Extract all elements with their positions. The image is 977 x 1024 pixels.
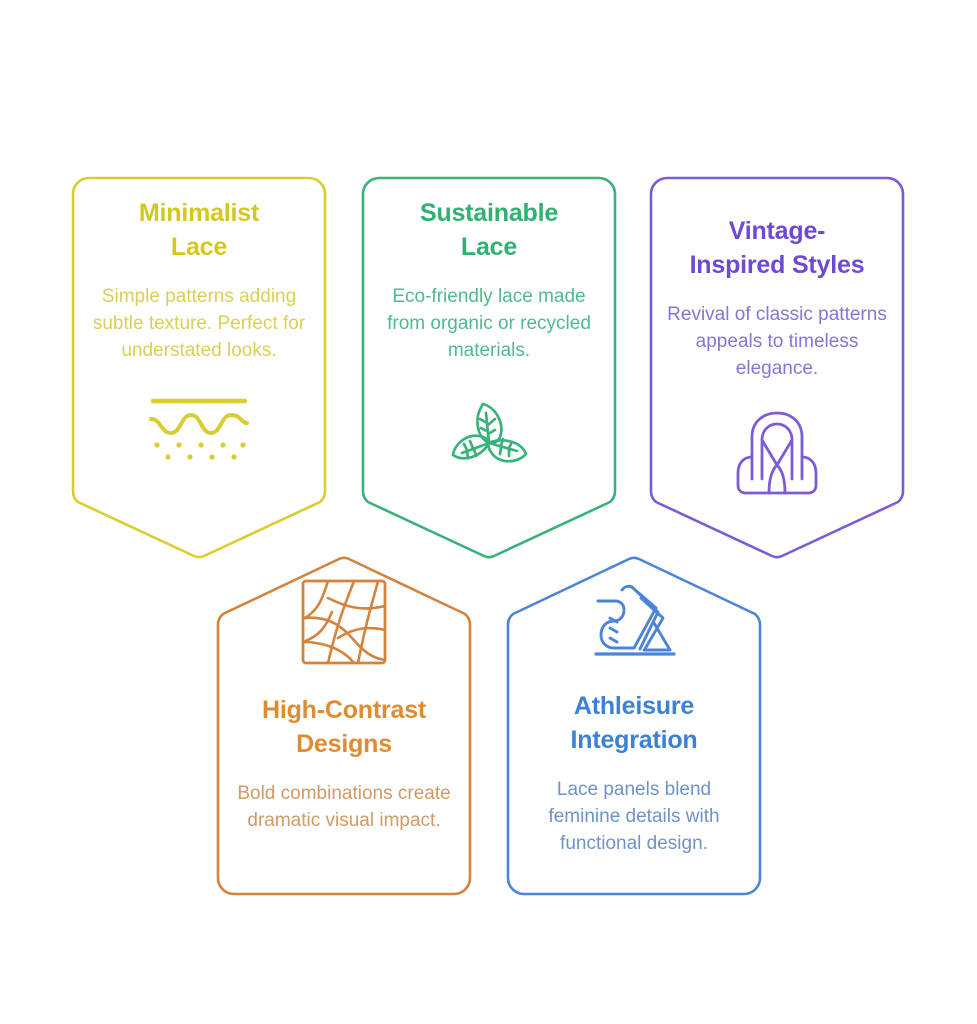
card-vintage-inspired-styles[interactable]: Vintage- Inspired Styles Revival of clas… [642, 169, 912, 569]
card-description: Eco-friendly lace made from organic or r… [376, 284, 602, 365]
card-title: High-Contrast Designs [262, 694, 426, 761]
card-title: Minimalist Lace [139, 197, 259, 264]
card-title-line1: High-Contrast [262, 696, 426, 724]
card-title: Vintage- Inspired Styles [690, 215, 865, 282]
card-title-line1: Sustainable [420, 199, 558, 227]
card-title-line2: Lace [461, 233, 517, 261]
card-title-line2: Integration [571, 726, 698, 754]
card-title-line1: Minimalist [139, 199, 259, 227]
card-title: Sustainable Lace [420, 197, 558, 264]
card-title-line2: Designs [296, 730, 392, 758]
card-title-line1: Vintage- [729, 217, 826, 245]
leaf-trio-icon [443, 393, 535, 485]
card-high-contrast-designs[interactable]: High-Contrast Designs Bold combinations … [209, 548, 479, 903]
card-content: Vintage- Inspired Styles Revival of clas… [642, 215, 912, 499]
card-description: Simple patterns adding subtle texture. P… [86, 284, 312, 365]
card-title-line1: Athleisure [574, 692, 694, 720]
lace-trends-infographic: Minimalist Lace Simple patterns adding s… [0, 0, 977, 1024]
lace-wave-dots-icon [147, 393, 251, 465]
card-description: Lace panels blend feminine details with … [523, 777, 745, 858]
card-title-line2: Inspired Styles [690, 251, 865, 279]
card-description: Revival of classic patterns appeals to t… [664, 302, 890, 383]
card-content: Athleisure Integration Lace panels blend… [499, 576, 769, 858]
card-content: Sustainable Lace Eco-friendly lace made … [354, 197, 624, 485]
card-minimalist-lace[interactable]: Minimalist Lace Simple patterns adding s… [64, 169, 334, 569]
armchair-icon [731, 407, 823, 499]
woven-pattern-square-icon [298, 576, 390, 668]
card-title: Athleisure Integration [571, 690, 698, 757]
card-content: Minimalist Lace Simple patterns adding s… [64, 197, 334, 465]
card-title-line2: Lace [171, 233, 227, 261]
sneaker-icon [584, 576, 684, 664]
card-content: High-Contrast Designs Bold combinations … [209, 576, 479, 835]
card-athleisure-integration[interactable]: Athleisure Integration Lace panels blend… [499, 548, 769, 903]
card-description: Bold combinations create dramatic visual… [233, 781, 455, 835]
card-sustainable-lace[interactable]: Sustainable Lace Eco-friendly lace made … [354, 169, 624, 569]
